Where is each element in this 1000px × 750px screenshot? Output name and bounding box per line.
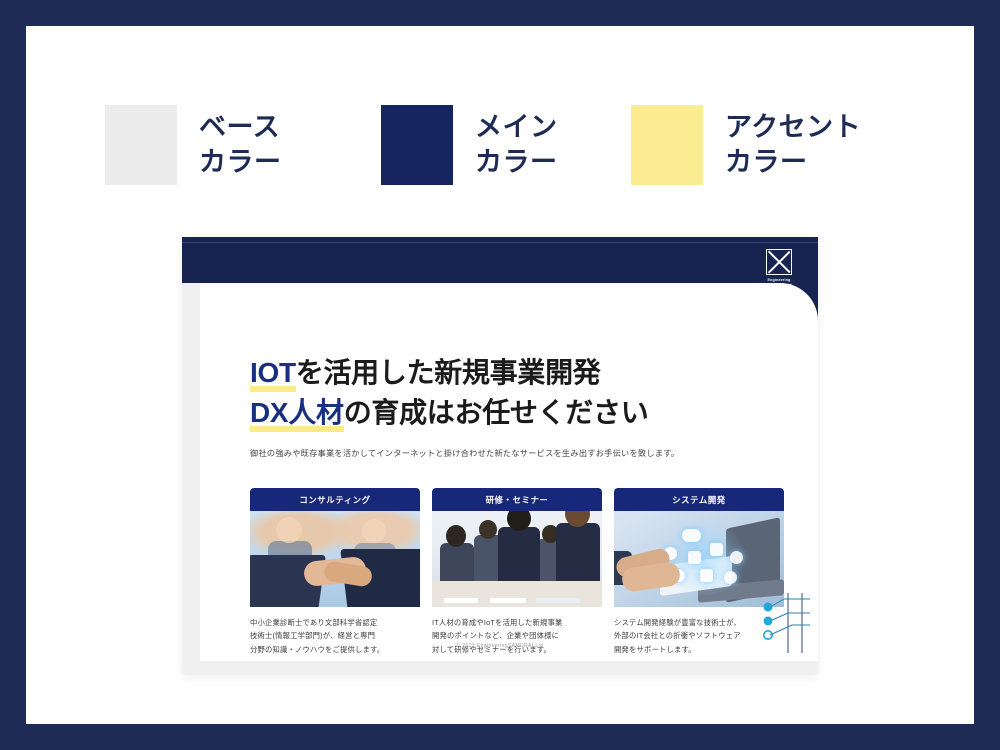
- card-title: 研修・セミナー: [432, 488, 602, 511]
- headline-rest-1: を活用した新規事業開発: [296, 357, 601, 388]
- palette-item-main: メイン カラー: [381, 105, 631, 185]
- frame-border-left: [0, 0, 26, 750]
- mockup-left-strip: [182, 283, 200, 675]
- headline-accent-iot: IOT: [250, 353, 296, 393]
- seminar-audience-photo: [432, 511, 602, 607]
- base-color-label: ベース カラー: [199, 110, 282, 179]
- website-mockup: Engineering SAMURAI.Ltd IOTを活用した新規事業開発 D…: [182, 237, 818, 675]
- headline-accent-dx: DX人材: [250, 393, 344, 433]
- service-cards: コンサルティング 中小企業診断士であり文部科学省認定 技術士(情報工学部門)が、…: [250, 488, 784, 656]
- color-palette-row: ベース カラー メイン カラー アクセント カラー: [105, 105, 895, 185]
- palette-item-accent: アクセント カラー: [631, 105, 895, 185]
- main-color-swatch: [381, 105, 453, 185]
- card-description: 中小企業診断士であり文部科学省認定 技術士(情報工学部門)が、経営と専門 分野の…: [250, 616, 420, 656]
- hero-section: IOTを活用した新規事業開発 DX人材の育成はお任せください 御社の強みや既存事…: [250, 353, 790, 460]
- card-title: システム開発: [614, 488, 784, 511]
- main-color-label: メイン カラー: [475, 110, 558, 179]
- mockup-top-hairline: [182, 242, 818, 243]
- hero-subline: 御社の強みや既存事業を活かしてインターネットと掛け合わせた新たなサービスを生み出…: [250, 447, 790, 460]
- slide-canvas: ベース カラー メイン カラー アクセント カラー Engineering SA…: [0, 0, 1000, 750]
- frame-border-top: [0, 0, 1000, 26]
- accent-color-label: アクセント カラー: [725, 110, 861, 179]
- mockup-content-panel: IOTを活用した新規事業開発 DX人材の育成はお任せください 御社の強みや既存事…: [200, 283, 818, 675]
- frame-border-right: [974, 0, 1000, 750]
- service-card-seminar[interactable]: 研修・セミナー IT人材の育成やIoTを活用した新規事業 開発のポイントな: [432, 488, 602, 656]
- hero-headline: IOTを活用した新規事業開発 DX人材の育成はお任せください: [250, 353, 790, 433]
- palette-item-base: ベース カラー: [105, 105, 381, 185]
- frame-border-bottom: [0, 724, 1000, 750]
- base-color-swatch: [105, 105, 177, 185]
- handshake-photo: [250, 511, 420, 607]
- mockup-bottom-strip: [182, 661, 818, 675]
- headline-line-2: DX人材の育成はお任せください: [250, 393, 790, 433]
- headline-line-1: IOTを活用した新規事業開発: [250, 353, 790, 393]
- service-card-consulting[interactable]: コンサルティング 中小企業診断士であり文部科学省認定 技術士(情報工学部門)が、…: [250, 488, 420, 656]
- card-description: IT人材の育成やIoTを活用した新規事業 開発のポイントなど、企業や団体様に 対…: [432, 616, 602, 656]
- x-mark-logo-icon: [766, 249, 792, 275]
- mockup-footer-copyright: © 2023 EngineeringSAMURAI,Ltd: [182, 643, 818, 649]
- accent-color-swatch: [631, 105, 703, 185]
- headline-rest-2: の育成はお任せください: [344, 397, 649, 428]
- card-title: コンサルティング: [250, 488, 420, 511]
